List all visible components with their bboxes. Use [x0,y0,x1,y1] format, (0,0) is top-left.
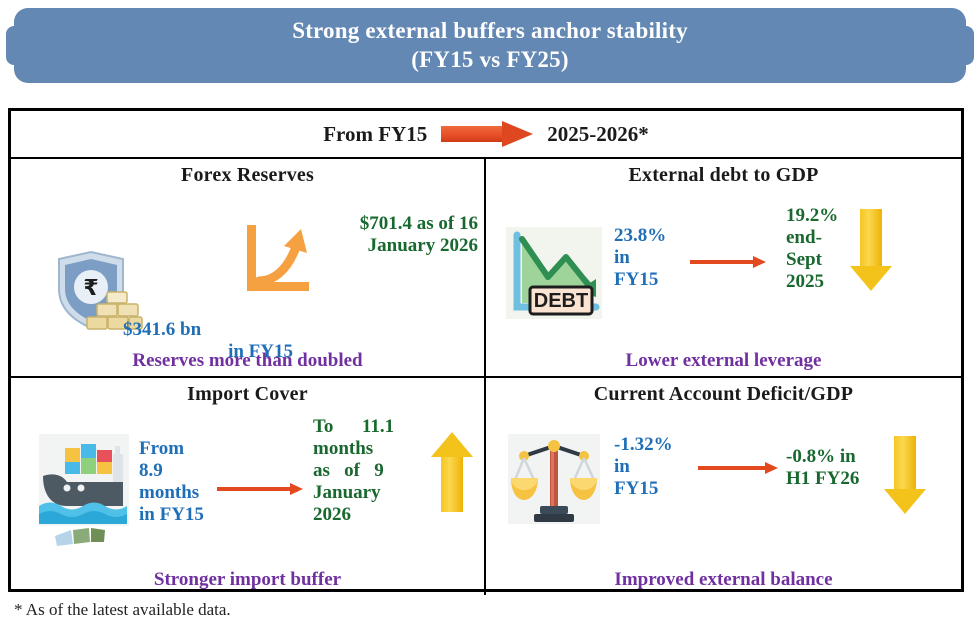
quadrant-tagline: Stronger import buffer [11,569,484,591]
timeline-from-label: From FY15 [323,122,427,147]
cad-to-line-2: H1 FY26 [786,468,859,490]
import-from-value: From 8.9 months in FY15 [139,438,204,526]
import-to-line-3: as of 9 [313,460,425,482]
import-to-value: To 11.1 months as of 9 January 2026 [313,416,425,526]
balance-scale-icon [506,432,602,531]
banner-line-2: (FY15 vs FY25) [292,46,688,74]
quadrant-row-1: Forex Reserves ₹ [11,159,961,378]
import-from-line-4: in FY15 [139,504,204,526]
timeline-to-label: 2025-2026* [547,122,649,147]
footnote: * As of the latest available data. [14,600,231,620]
debt-to-line-2: end- [786,227,838,249]
cargo-ship-icon [37,432,131,553]
quadrant-row-2: Import Cover [11,378,961,595]
title-banner: Strong external buffers anchor stability… [14,8,966,83]
infographic-table: From FY15 2025-2026* Forex Reserves ₹ [8,108,964,592]
debt-from-line-1: 23.8% [614,225,666,247]
debt-to-value: 19.2% end- Sept 2025 [786,205,838,293]
cad-from-line-3: FY15 [614,478,673,500]
quadrant-title: Current Account Deficit/GDP [486,378,961,406]
forex-from-line-1: $341.6 bn [123,319,293,341]
right-arrow-icon [441,121,533,147]
forex-to-value: $701.4 as of 16 January 2026 [268,213,478,257]
quadrant-tagline: Lower external leverage [486,350,961,372]
quadrant-title: Forex Reserves [11,159,484,187]
debt-to-line-1: 19.2% [786,205,838,227]
svg-text:DEBT: DEBT [534,290,588,312]
quadrant-import-cover: Import Cover [11,378,486,595]
right-arrow-icon [690,256,766,268]
timeline-header-row: From FY15 2025-2026* [11,111,961,159]
cad-to-line-1: -0.8% in [786,446,859,468]
banner-body: Strong external buffers anchor stability… [14,8,966,83]
quadrant-current-account-deficit-gdp: Current Account Deficit/GDP [486,378,961,595]
up-arrow-icon [429,432,475,512]
right-arrow-icon [217,483,303,495]
down-arrow-icon [882,436,928,514]
import-to-line-4: January [313,482,425,504]
quadrant-tagline: Reserves more than doubled [11,350,484,372]
import-from-line-1: From [139,438,204,460]
right-arrow-icon [698,462,778,474]
debt-from-line-2: in [614,247,666,269]
banner-line-1: Strong external buffers anchor stability [292,17,688,45]
import-from-line-3: months [139,482,204,504]
quadrant-title: Import Cover [11,378,484,406]
import-to-line-5: 2026 [313,504,425,526]
cad-from-value: -1.32% in FY15 [614,434,673,500]
debt-from-value: 23.8% in FY15 [614,225,666,291]
cad-from-line-2: in [614,456,673,478]
debt-declining-chart-icon: DEBT [504,225,604,326]
cad-from-line-1: -1.32% [614,434,673,456]
quadrant-external-debt-to-gdp: External debt to GDP DEBT 23.8% [486,159,961,376]
svg-text:₹: ₹ [83,276,98,301]
quadrant-tagline: Improved external balance [486,569,961,591]
import-from-line-2: 8.9 [139,460,204,482]
quadrant-forex-reserves: Forex Reserves ₹ [11,159,486,376]
quadrant-title: External debt to GDP [486,159,961,187]
debt-from-line-3: FY15 [614,269,666,291]
debt-to-line-4: 2025 [786,271,838,293]
banner-text: Strong external buffers anchor stability… [292,17,688,73]
cad-to-value: -0.8% in H1 FY26 [786,446,859,490]
forex-to-line-2: January 2026 [268,235,478,257]
import-to-line-1: To 11.1 [313,416,425,438]
forex-to-line-1: $701.4 as of 16 [268,213,478,235]
debt-to-line-3: Sept [786,249,838,271]
import-to-line-2: months [313,438,425,460]
down-arrow-icon [848,209,894,291]
